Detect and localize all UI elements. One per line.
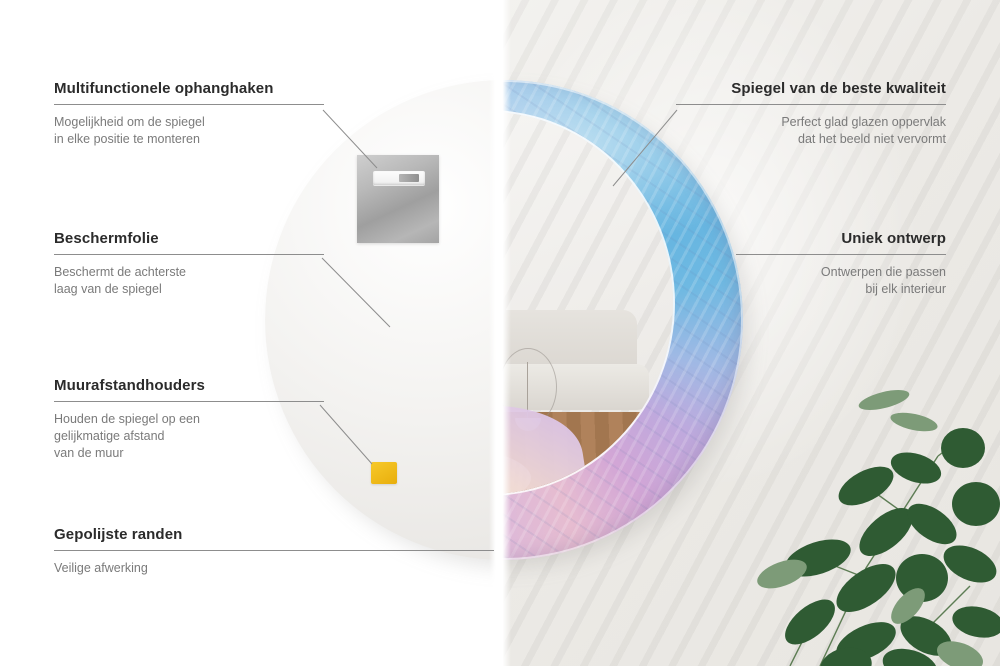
callout-beste-kwaliteit: Spiegel van de beste kwaliteit Perfect g… <box>676 80 946 148</box>
callout-rule <box>54 401 324 402</box>
callout-rule <box>736 254 946 255</box>
callout-rule <box>54 104 324 105</box>
wall-spacer <box>371 462 397 484</box>
callout-uniek-ontwerp: Uniek ontwerp Ontwerpen die passen bij e… <box>736 230 946 298</box>
callout-description: Veilige afwerking <box>54 560 494 577</box>
callout-ophanghaken: Multifunctionele ophanghaken Mogelijkhei… <box>54 80 324 148</box>
hook-slot-icon <box>373 171 425 185</box>
callout-description: Ontwerpen die passen bij elk interieur <box>736 264 946 298</box>
callout-rule <box>54 254 324 255</box>
callout-title: Muurafstandhouders <box>54 377 324 394</box>
hanging-hook-plate <box>357 155 439 243</box>
callout-beschermfolie: Beschermfolie Beschermt de achterste laa… <box>54 230 324 298</box>
callout-rule <box>676 104 946 105</box>
foliage-icon <box>670 336 1000 666</box>
callout-description: Mogelijkheid om de spiegel in elke posit… <box>54 114 324 148</box>
callout-title: Multifunctionele ophanghaken <box>54 80 324 97</box>
callout-title: Gepolijste randen <box>54 526 494 543</box>
callout-muurafstandhouders: Muurafstandhouders Houden de spiegel op … <box>54 377 324 462</box>
callout-title: Spiegel van de beste kwaliteit <box>676 80 946 97</box>
callout-description: Perfect glad glazen oppervlak dat het be… <box>676 114 946 148</box>
callout-gepolijste-randen: Gepolijste randen Veilige afwerking <box>54 526 494 577</box>
callout-rule <box>54 550 494 551</box>
callout-title: Uniek ontwerp <box>736 230 946 247</box>
callout-description: Houden de spiegel op een gelijkmatige af… <box>54 411 324 462</box>
callout-title: Beschermfolie <box>54 230 324 247</box>
product-feature-infographic: Multifunctionele ophanghaken Mogelijkhei… <box>0 0 1000 666</box>
callout-description: Beschermt de achterste laag van de spieg… <box>54 264 324 298</box>
